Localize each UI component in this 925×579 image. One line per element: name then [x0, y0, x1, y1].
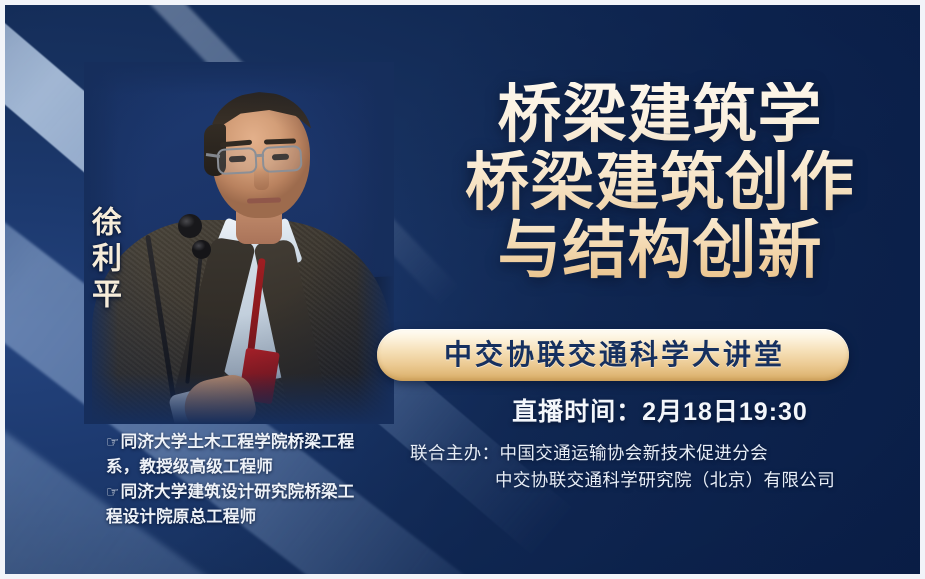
series-badge-label: 中交协联交通科学大讲堂 — [441, 341, 785, 369]
speaker-bio-line-1-cont: 系，教授级高级工程师 — [106, 455, 406, 480]
photo-edge-feather — [84, 62, 394, 424]
pointing-hand-icon-2: ☞ — [106, 484, 120, 501]
speaker-bio-line-1-text: 同济大学土木工程学院桥梁工程 — [121, 433, 355, 451]
content-column: 桥梁建筑学 桥梁建筑创作 与结构创新 中交协联交通科学大讲堂 直播时间：2月18… — [395, 0, 925, 579]
series-badge: 中交协联交通科学大讲堂 — [377, 329, 849, 381]
title-line-2: 桥梁建筑创作 — [395, 150, 925, 214]
speaker-bio-line-2: ☞同济大学建筑设计研究院桥梁工 — [106, 480, 406, 505]
poster-title: 桥梁建筑学 桥梁建筑创作 与结构创新 — [395, 82, 925, 282]
title-line-3: 与结构创新 — [395, 218, 925, 282]
speaker-bio: ☞同济大学土木工程学院桥梁工程 系，教授级高级工程师 ☞同济大学建筑设计研究院桥… — [106, 430, 406, 530]
pointing-hand-icon: ☞ — [106, 434, 120, 451]
speaker-name: 徐利平 — [88, 206, 118, 314]
speaker-bio-line-2-cont: 程设计院原总工程师 — [106, 505, 406, 530]
live-time: 直播时间：2月18日19:30 — [395, 392, 925, 428]
hosts-block: 联合主办：中国交通运输协会新技术促进分会 中交协联交通科学研究院（北京）有限公司 — [410, 440, 925, 494]
hosts-line-1: 联合主办：中国交通运输协会新技术促进分会 — [410, 440, 925, 467]
speaker-photo — [84, 62, 394, 424]
webinar-poster: 徐利平 ☞同济大学土木工程学院桥梁工程 系，教授级高级工程师 ☞同济大学建筑设计… — [0, 0, 925, 579]
title-line-1: 桥梁建筑学 — [395, 82, 925, 146]
speaker-bio-line-2-text: 同济大学建筑设计研究院桥梁工 — [121, 483, 355, 501]
hosts-line-2: 中交协联交通科学研究院（北京）有限公司 — [410, 467, 925, 494]
speaker-bio-line-1: ☞同济大学土木工程学院桥梁工程 — [106, 430, 406, 455]
